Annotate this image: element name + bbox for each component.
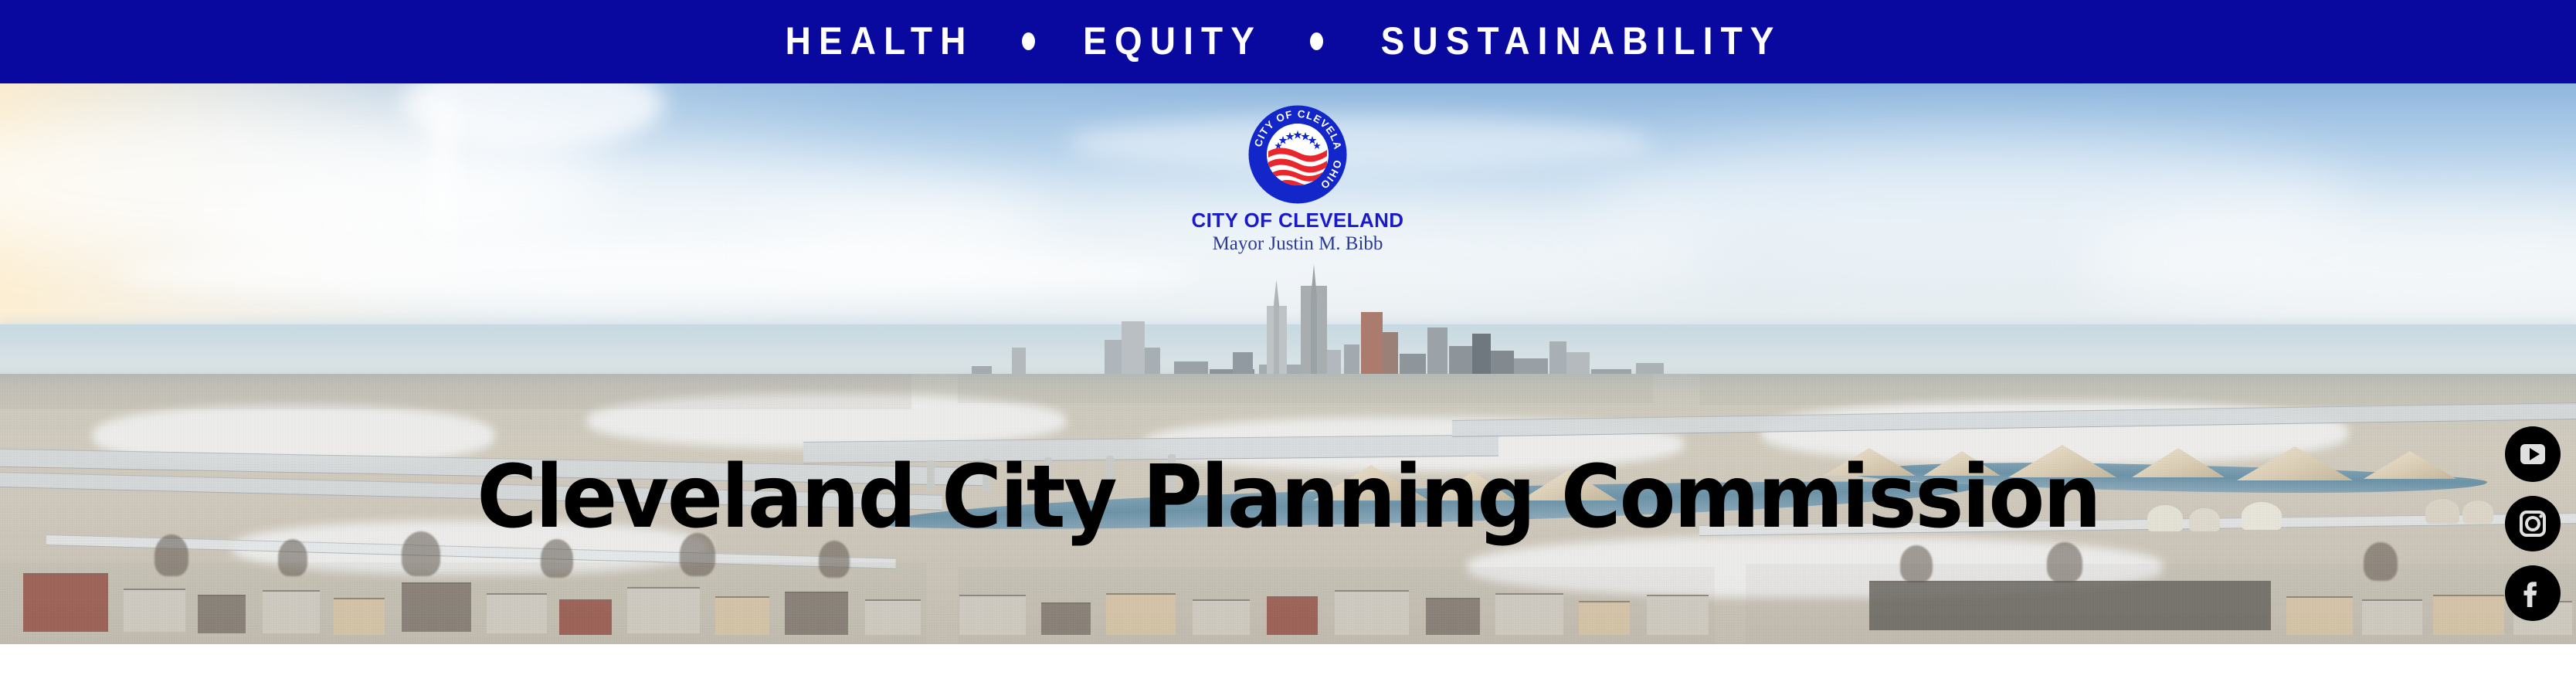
bottom-whitespace bbox=[0, 644, 2576, 682]
youtube-icon bbox=[2516, 437, 2550, 471]
building bbox=[559, 599, 612, 635]
building bbox=[198, 595, 246, 633]
tree bbox=[154, 534, 188, 576]
building bbox=[1579, 601, 1630, 635]
bridge-pier bbox=[927, 460, 935, 491]
tagline-banner: HEALTH EQUITY SUSTAINABILITY bbox=[0, 0, 2576, 83]
building bbox=[334, 598, 385, 635]
building bbox=[1495, 593, 1563, 635]
building bbox=[1267, 596, 1318, 635]
tagline-word-equity: EQUITY bbox=[1083, 22, 1262, 60]
building bbox=[627, 587, 700, 633]
building bbox=[263, 590, 320, 633]
building bbox=[865, 599, 921, 635]
city-of-cleveland-seal-icon: CITY OF CLEVELAND OHIO bbox=[1248, 105, 1347, 204]
building bbox=[2286, 596, 2353, 635]
storage-tank bbox=[2189, 508, 2220, 531]
storage-tank bbox=[2462, 500, 2493, 524]
neighborhood-block bbox=[0, 374, 911, 409]
org-name: CITY OF CLEVELAND bbox=[1151, 210, 1444, 231]
building bbox=[124, 589, 185, 632]
tree bbox=[402, 531, 440, 576]
building bbox=[487, 593, 547, 633]
storage-tank bbox=[2242, 502, 2282, 530]
tree bbox=[2047, 542, 2082, 582]
tree bbox=[541, 539, 573, 578]
building bbox=[1335, 590, 1409, 635]
building bbox=[1106, 593, 1176, 635]
facebook-icon bbox=[2516, 576, 2550, 610]
tagline-word-sustainability: SUSTAINABILITY bbox=[1381, 22, 1782, 60]
neighborhood-block bbox=[1699, 374, 2576, 405]
building bbox=[1426, 598, 1480, 635]
social-link-youtube[interactable] bbox=[2505, 426, 2561, 482]
mayor-name: Mayor Justin M. Bibb bbox=[1151, 233, 1444, 256]
tree bbox=[819, 541, 850, 578]
instagram-icon bbox=[2516, 507, 2550, 541]
tagline-word-health: HEALTH bbox=[785, 22, 973, 60]
city-seal: CITY OF CLEVELAND OHIO bbox=[1248, 105, 1347, 204]
neighborhood-block bbox=[958, 374, 1653, 403]
downtown-skyline bbox=[0, 238, 2576, 392]
tree bbox=[1900, 545, 1933, 582]
bridge-pier bbox=[1044, 457, 1052, 491]
hero-photo: CITY OF CLEVELAND OHIO bbox=[0, 83, 2576, 644]
building bbox=[1647, 595, 1709, 635]
ground-layer bbox=[0, 374, 2576, 644]
storage-tank bbox=[2147, 505, 2183, 531]
social-link-instagram[interactable] bbox=[2505, 496, 2561, 551]
building bbox=[715, 596, 769, 635]
building bbox=[23, 573, 108, 632]
building bbox=[2433, 595, 2504, 635]
building-apartment bbox=[1869, 581, 2271, 630]
social-link-facebook[interactable] bbox=[2505, 565, 2561, 621]
tree bbox=[680, 533, 715, 576]
bridge-pier bbox=[983, 459, 990, 491]
bridge-pier bbox=[1168, 454, 1176, 491]
page-root: HEALTH EQUITY SUSTAINABILITY bbox=[0, 0, 2576, 682]
tagline-separator-dot-2 bbox=[1310, 32, 1323, 50]
tree bbox=[278, 539, 307, 576]
building bbox=[959, 595, 1026, 635]
building bbox=[2362, 599, 2422, 635]
bridge-pier bbox=[1106, 456, 1114, 491]
social-links-rail bbox=[2503, 426, 2562, 621]
sand-pile bbox=[2364, 451, 2456, 479]
building bbox=[1193, 599, 1250, 635]
tagline-separator-dot-1 bbox=[1022, 32, 1035, 50]
tagline-banner-inner: HEALTH EQUITY SUSTAINABILITY bbox=[777, 22, 1799, 60]
tree bbox=[2364, 542, 2398, 581]
building bbox=[1041, 602, 1091, 635]
cloud-contrail bbox=[433, 93, 453, 239]
building bbox=[785, 592, 848, 635]
building bbox=[402, 582, 471, 632]
city-logo-lockup: CITY OF CLEVELAND OHIO bbox=[1151, 105, 1444, 256]
storage-tank bbox=[2425, 499, 2459, 524]
